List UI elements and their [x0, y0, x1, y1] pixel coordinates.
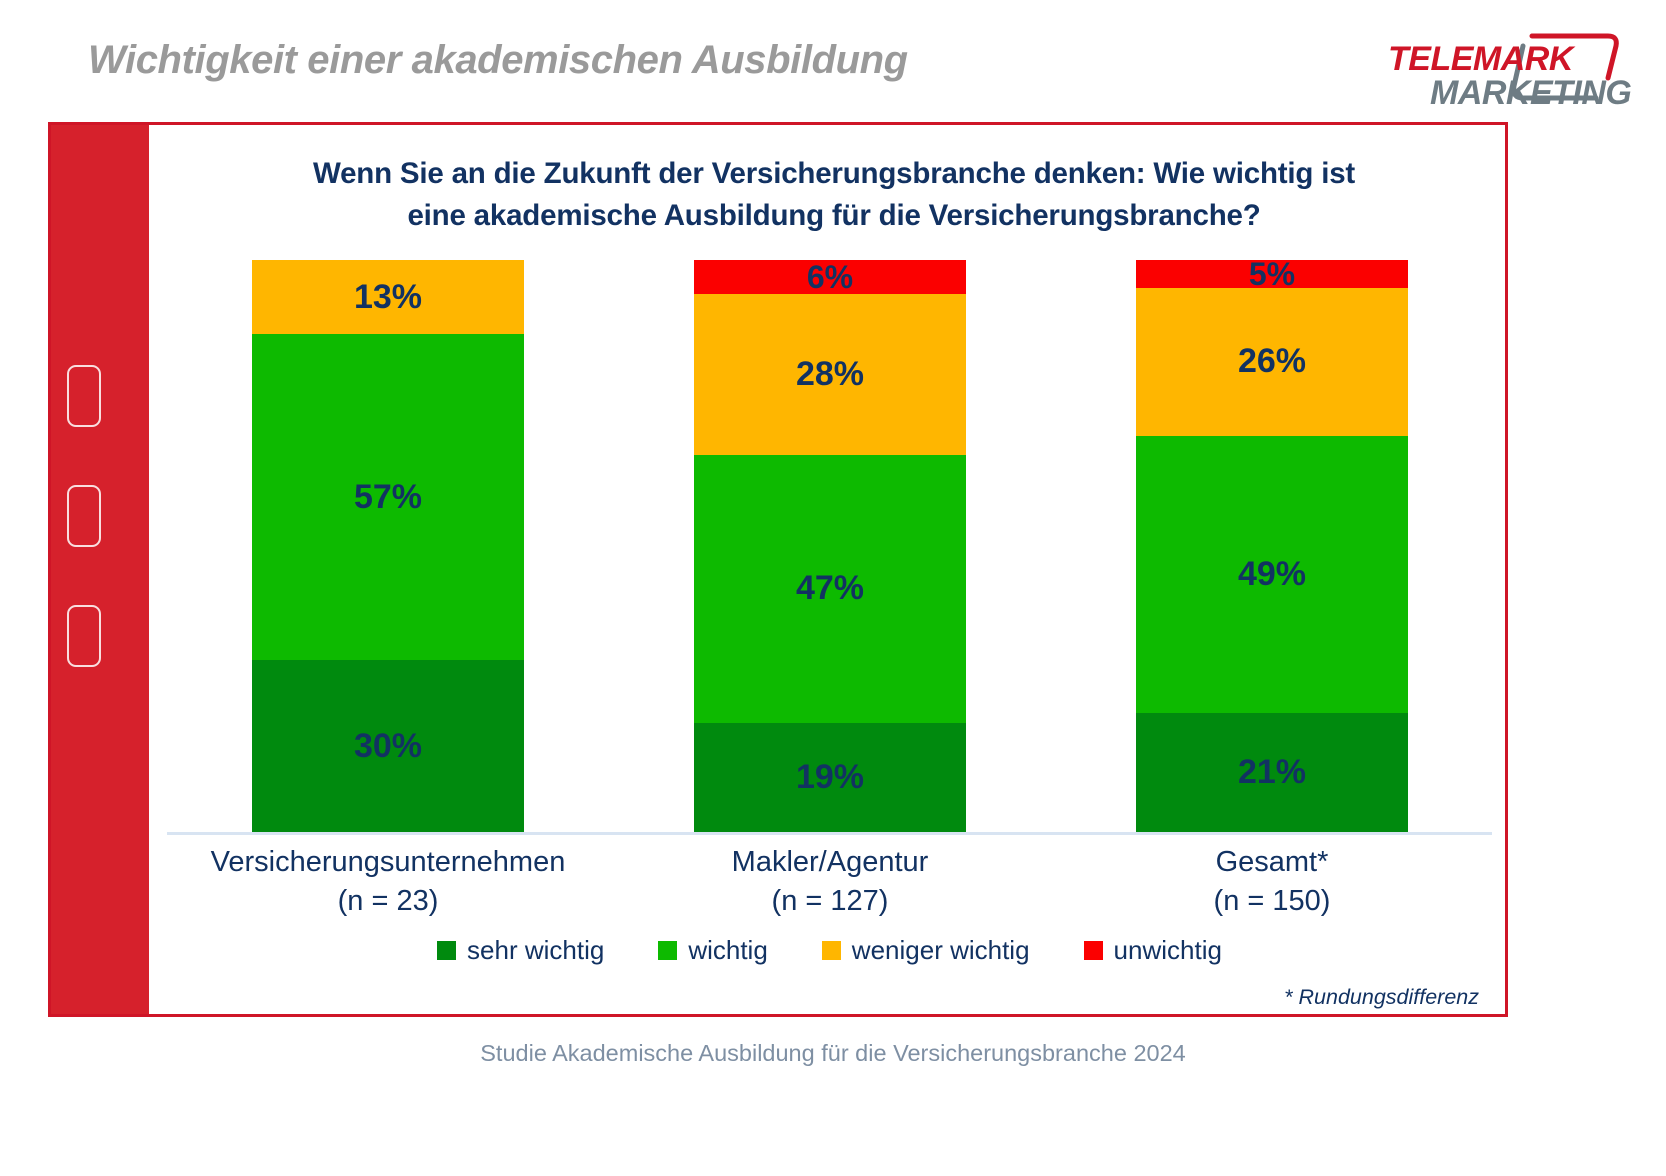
legend-label: sehr wichtig	[467, 935, 604, 966]
category-name: Versicherungsunternehmen	[211, 846, 566, 878]
legend-item-wichtig[interactable]: wichtig	[658, 935, 767, 966]
bar-group: 5% 26% 49% 21%	[1051, 260, 1493, 832]
stacked-bar[interactable]: 5% 26% 49% 21%	[1136, 260, 1408, 832]
telemark-marketing-logo: TELEMARK MARKETING	[1382, 26, 1634, 112]
legend-item-unwichtig[interactable]: unwichtig	[1084, 935, 1222, 966]
category-n: (n = 23)	[167, 882, 609, 921]
bar-group: 13% 57% 30%	[167, 260, 609, 832]
logo-text-marketing: MARKETING	[1430, 74, 1631, 112]
page-footer: Studie Akademische Ausbildung für die Ve…	[0, 1040, 1666, 1067]
stacked-bar[interactable]: 13% 57% 30%	[252, 260, 524, 832]
legend-swatch-icon	[658, 941, 677, 960]
bar-segment-unwichtig[interactable]: 6%	[694, 260, 966, 294]
legend-label: weniger wichtig	[852, 935, 1030, 966]
bar-segment-weniger-wichtig[interactable]: 26%	[1136, 288, 1408, 435]
category-n: (n = 127)	[609, 882, 1051, 921]
bar-segment-wichtig[interactable]: 47%	[694, 455, 966, 724]
stacked-bar[interactable]: 6% 28% 47% 19%	[694, 260, 966, 832]
chart-legend: sehr wichtig wichtig weniger wichtig unw…	[167, 935, 1492, 966]
legend-swatch-icon	[437, 941, 456, 960]
category-n: (n = 150)	[1051, 882, 1493, 921]
rounded-rect-outline-icon	[67, 605, 101, 667]
chart-card: Marktforschung Seminare Telefonmarketing…	[48, 122, 1508, 1017]
category-name: Gesamt*	[1216, 846, 1329, 878]
page-title: Wichtigkeit einer akademischen Ausbildun…	[88, 38, 908, 83]
legend-item-sehr-wichtig[interactable]: sehr wichtig	[437, 935, 604, 966]
sidebar-item-telefonmarketing[interactable]: Telefonmarketing	[51, 577, 149, 697]
x-tick-label: Gesamt* (n = 150)	[1051, 843, 1493, 921]
bar-segment-weniger-wichtig[interactable]: 13%	[252, 260, 524, 334]
rounded-rect-outline-icon	[67, 365, 101, 427]
x-axis-line	[167, 832, 1492, 835]
rounded-rect-outline-icon	[67, 485, 101, 547]
x-tick-label: Versicherungsunternehmen (n = 23)	[167, 843, 609, 921]
category-name: Makler/Agentur	[732, 846, 929, 878]
x-axis-labels: Versicherungsunternehmen (n = 23) Makler…	[167, 843, 1492, 933]
bar-segment-sehr-wichtig[interactable]: 30%	[252, 660, 524, 832]
chart-title-line-2: eine akademische Ausbildung für die Vers…	[189, 195, 1479, 237]
plot-area: 13% 57% 30% 6% 28% 47% 19% 5% 26%	[167, 260, 1492, 835]
bar-segment-unwichtig[interactable]: 5%	[1136, 260, 1408, 288]
chart-content: Wenn Sie an die Zukunft der Versicherung…	[149, 125, 1505, 1014]
bar-segment-wichtig[interactable]: 49%	[1136, 436, 1408, 714]
bar-segment-sehr-wichtig[interactable]: 19%	[694, 723, 966, 832]
chart-footnote: * Rundungsdifferenz	[1284, 985, 1479, 1010]
x-tick-label: Makler/Agentur (n = 127)	[609, 843, 1051, 921]
bar-segment-sehr-wichtig[interactable]: 21%	[1136, 713, 1408, 832]
legend-label: unwichtig	[1114, 935, 1222, 966]
brand-sidebar: Marktforschung Seminare Telefonmarketing	[51, 125, 149, 1014]
logo-text-telemark: TELEMARK	[1388, 40, 1576, 78]
bar-group: 6% 28% 47% 19%	[609, 260, 1051, 832]
bar-segment-wichtig[interactable]: 57%	[252, 334, 524, 660]
legend-swatch-icon	[1084, 941, 1103, 960]
page-header: Wichtigkeit einer akademischen Ausbildun…	[0, 0, 1666, 118]
legend-label: wichtig	[688, 935, 767, 966]
bar-segment-weniger-wichtig[interactable]: 28%	[694, 294, 966, 454]
legend-swatch-icon	[822, 941, 841, 960]
sidebar-item-marktforschung[interactable]: Marktforschung	[51, 337, 149, 457]
legend-item-weniger-wichtig[interactable]: weniger wichtig	[822, 935, 1030, 966]
chart-title-line-1: Wenn Sie an die Zukunft der Versicherung…	[189, 153, 1479, 195]
chart-title: Wenn Sie an die Zukunft der Versicherung…	[189, 153, 1479, 237]
